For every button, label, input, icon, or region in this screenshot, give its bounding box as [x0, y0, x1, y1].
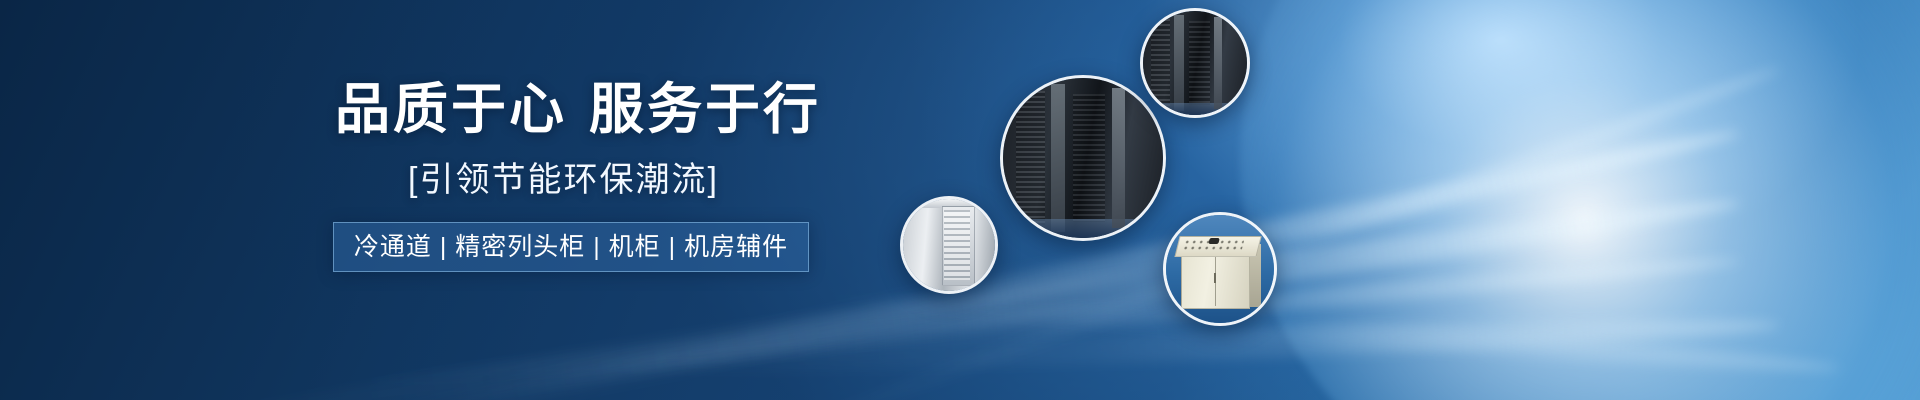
rack-floor [1143, 103, 1247, 115]
banner-headline: 品质于心服务于行 [335, 78, 805, 140]
banner-copy-block: 品质于心服务于行 [引领节能环保潮流] 冷通道 | 精密列头柜 | 机柜 | 机… [0, 0, 860, 400]
light-grey-rack-image [903, 199, 995, 291]
light-burst-glow [1240, 0, 1920, 400]
product-circle-small-dark-rack[interactable] [1140, 8, 1250, 118]
rack-slots [944, 210, 970, 280]
product-category-bar[interactable]: 冷通道 | 精密列头柜 | 机柜 | 机房辅件 [333, 222, 809, 272]
product-category-list: 冷通道 | 精密列头柜 | 机柜 | 机房辅件 [354, 235, 788, 260]
small-dark-rack-image [1143, 11, 1247, 115]
beige-floor-cabinet-image [1166, 215, 1274, 323]
headline-part-two: 服务于行 [589, 78, 821, 140]
cabinet-handle [1214, 273, 1216, 283]
rack-vent-panel [1189, 21, 1210, 104]
product-circle-beige-cabinet[interactable] [1163, 212, 1277, 326]
dark-server-racks-image [1003, 78, 1163, 238]
promo-banner: 品质于心服务于行 [引领节能环保潮流] 冷通道 | 精密列头柜 | 机柜 | 机… [0, 0, 1920, 400]
light-ray [762, 281, 1841, 380]
cabinet-vent-knob [1208, 238, 1219, 244]
product-circle-dark-server-racks[interactable] [1000, 75, 1166, 241]
headline-part-one: 品质于心 [335, 78, 567, 140]
product-circle-light-grey-rack[interactable] [900, 196, 998, 294]
rack-floor [1003, 219, 1163, 238]
rack-vent-panel [1016, 91, 1045, 225]
banner-subtitle: [引领节能环保潮流] [408, 158, 748, 202]
rack-vent-panel [1073, 94, 1105, 222]
rack-vent-panel [1151, 19, 1170, 106]
